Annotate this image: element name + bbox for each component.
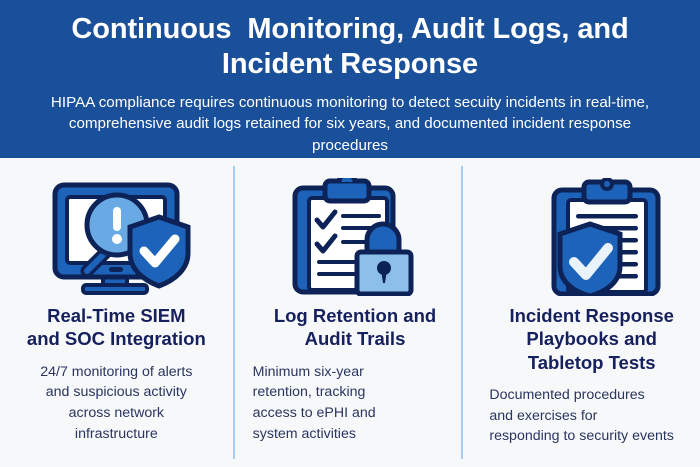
page-subtitle: HIPAA compliance requires continuous mon… — [45, 92, 655, 157]
monitor-magnifier-alert-shield-icon — [41, 176, 191, 298]
infographic-root: Continuous Monitoring, Audit Logs, and I… — [0, 0, 700, 467]
page-title: Continuous Monitoring, Audit Logs, and I… — [71, 12, 628, 83]
card-log-retention: Log Retention and Audit Trails Minimum s… — [233, 158, 470, 467]
card-body: Minimum six-year retention, tracking acc… — [253, 362, 458, 445]
clipboard-document-shield-check-icon — [522, 176, 662, 298]
cards-row: Real-Time SIEM and SOC Integration 24/7 … — [0, 158, 700, 467]
card-body: 24/7 monitoring of alerts and suspicious… — [40, 362, 192, 445]
card-title: Incident Response Playbooks and Tabletop… — [509, 304, 673, 374]
card-real-time-siem: Real-Time SIEM and SOC Integration 24/7 … — [0, 158, 233, 467]
clipboard-checklist-padlock-icon — [289, 176, 421, 298]
card-title: Real-Time SIEM and SOC Integration — [27, 304, 206, 351]
card-title: Log Retention and Audit Trails — [274, 304, 436, 351]
card-incident-response: Incident Response Playbooks and Tabletop… — [469, 158, 700, 467]
header-banner: Continuous Monitoring, Audit Logs, and I… — [0, 0, 700, 158]
card-body: Documented procedures and exercises for … — [489, 385, 694, 447]
